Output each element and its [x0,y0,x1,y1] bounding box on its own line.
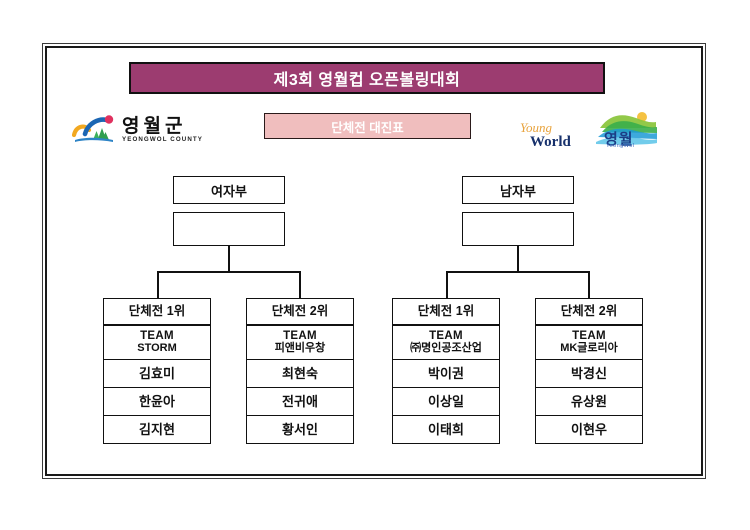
team-card-women-second: 단체전 2위 TEAM 피앤비우창 최현숙 전귀애 황서인 [246,298,354,444]
team-title: STORM [137,343,177,355]
team-player-3: 이현우 [536,415,642,443]
division-header-women-label: 여자부 [211,181,247,200]
team-player-2: 유상원 [536,387,642,415]
connector-men-stem [517,246,519,272]
team-player-2: 한윤아 [104,387,210,415]
team-player-1: 박경신 [536,359,642,387]
team-keyword-label: TEAM [283,330,317,342]
connector-men-left-drop [446,271,448,299]
team-name-cell: TEAM STORM [104,325,210,359]
team-player-2: 전귀애 [247,387,353,415]
team-name-cell: TEAM 피앤비우창 [247,325,353,359]
connector-women-crossbar [157,271,300,273]
connector-women-stem [228,246,230,272]
team-title: ㈜명인공조산업 [410,343,482,355]
tournament-bracket: 여자부 단체전 1위 TEAM STORM 김효미 한윤아 김지현 단체전 2위… [0,0,750,530]
team-name-cell: TEAM ㈜명인공조산업 [393,325,499,359]
team-title: 피앤비우창 [275,343,326,355]
team-keyword-label: TEAM [572,330,606,342]
bracket-sheet: 제3회 영월컵 오픈볼링대회 단체전 대진표 영월군 YEONGWOL COUN… [0,0,750,530]
connector-men-right-drop [588,271,590,299]
division-men-empty-slot [462,212,574,246]
team-title: MK글로리아 [560,343,618,355]
team-rank-label: 단체전 2위 [536,299,642,325]
connector-women-left-drop [157,271,159,299]
team-player-1: 최현숙 [247,359,353,387]
team-card-men-second: 단체전 2위 TEAM MK글로리아 박경신 유상원 이현우 [535,298,643,444]
team-card-men-first: 단체전 1위 TEAM ㈜명인공조산업 박이권 이상일 이태희 [392,298,500,444]
team-keyword-label: TEAM [429,330,463,342]
team-rank-label: 단체전 2위 [247,299,353,325]
connector-women-right-drop [299,271,301,299]
connector-men-crossbar [446,271,589,273]
team-rank-label: 단체전 1위 [393,299,499,325]
team-card-women-first: 단체전 1위 TEAM STORM 김효미 한윤아 김지현 [103,298,211,444]
team-name-cell: TEAM MK글로리아 [536,325,642,359]
team-player-1: 박이권 [393,359,499,387]
team-keyword-label: TEAM [140,330,174,342]
team-player-3: 황서인 [247,415,353,443]
division-header-women: 여자부 [173,176,285,204]
division-women-empty-slot [173,212,285,246]
team-player-2: 이상일 [393,387,499,415]
team-player-1: 김효미 [104,359,210,387]
division-header-men-label: 남자부 [500,181,536,200]
division-header-men: 남자부 [462,176,574,204]
team-player-3: 김지현 [104,415,210,443]
team-player-3: 이태희 [393,415,499,443]
team-rank-label: 단체전 1위 [104,299,210,325]
